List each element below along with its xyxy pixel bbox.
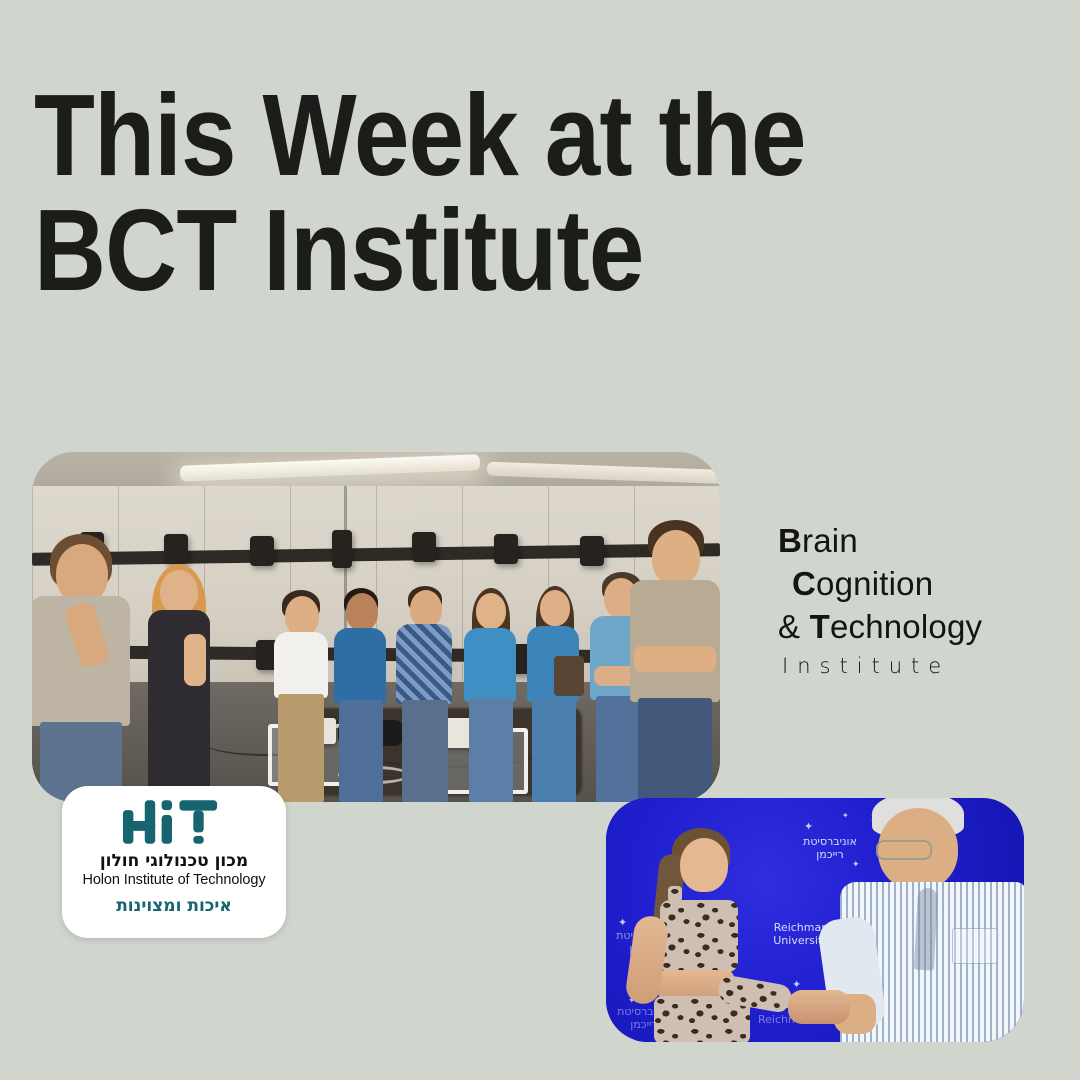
page-title: This Week at the BCT Institute xyxy=(34,78,808,308)
person-torso xyxy=(630,580,720,702)
leopard-top xyxy=(660,900,738,972)
bct-line-technology: & Technology xyxy=(778,606,1048,649)
person-head xyxy=(476,593,506,629)
person-figure-woman xyxy=(624,830,814,1042)
person-legs xyxy=(469,698,513,802)
hit-tagline: איכות ומצוינות xyxy=(116,896,232,916)
person-legs xyxy=(638,698,712,802)
bct-word-cognition: ognition xyxy=(816,565,933,602)
wall-camera-icon xyxy=(412,532,436,562)
holon-institute-of-technology-logo: מכון טכנולוגי חולון Holon Institute of T… xyxy=(62,786,286,938)
lab-room-art xyxy=(32,452,720,802)
person-figure xyxy=(332,588,390,802)
wall-camera-icon xyxy=(164,534,188,564)
person-legs xyxy=(278,694,324,802)
person-head xyxy=(410,590,442,628)
person-legs xyxy=(532,698,576,802)
person-arm xyxy=(184,634,206,686)
person-head xyxy=(540,590,570,626)
person-figure-man xyxy=(820,798,1024,1042)
bct-initial-t: T xyxy=(810,608,830,645)
person-plaid-shirt xyxy=(396,624,452,704)
bct-word-technology: echnology xyxy=(830,608,982,645)
hit-hebrew-name: מכון טכנולוגי חולון xyxy=(100,851,248,871)
wall-camera-icon xyxy=(332,530,352,568)
person-torso xyxy=(464,628,516,702)
bct-line-brain: Brain xyxy=(778,520,1048,563)
handshake-event-photo: ✦ ✦ אוניברסיטתרייכמן ✦ אוניברסיטתרייכמן … xyxy=(606,798,1024,1042)
wall-camera-icon xyxy=(250,536,274,566)
person-torso xyxy=(274,632,328,698)
person-figure xyxy=(270,590,332,802)
shirt-placket xyxy=(914,888,938,971)
lab-tour-photo xyxy=(32,452,720,802)
person-figure xyxy=(32,534,134,802)
person-legs xyxy=(402,700,448,802)
bct-initial-b: B xyxy=(778,522,802,559)
wall-camera-icon xyxy=(580,536,604,566)
person-figure xyxy=(524,586,584,802)
person-head xyxy=(160,570,198,614)
person-figure xyxy=(144,564,216,802)
person-head xyxy=(56,544,108,604)
person-crossed-arms xyxy=(634,646,716,672)
person-legs xyxy=(339,700,383,802)
person-head xyxy=(652,530,700,586)
person-figure xyxy=(628,520,720,802)
bct-word-brain: rain xyxy=(802,522,858,559)
person-head xyxy=(680,838,728,892)
shoulder-bag xyxy=(554,656,584,696)
poster-canvas: This Week at the BCT Institute xyxy=(0,0,1080,1080)
person-figure xyxy=(394,586,456,802)
bct-institute-logo: Brain Cognition & Technology Institute xyxy=(778,520,1048,678)
wall-camera-icon xyxy=(494,534,518,564)
person-head xyxy=(285,596,319,636)
hit-logo-mark xyxy=(122,797,226,845)
bct-initial-c: C xyxy=(792,565,816,602)
shirt-pocket xyxy=(952,928,998,964)
bct-word-institute: Institute xyxy=(782,654,1048,678)
person-head xyxy=(346,593,378,631)
person-torso xyxy=(334,628,386,704)
bct-ampersand: & xyxy=(778,608,810,645)
hit-english-name: Holon Institute of Technology xyxy=(82,872,265,888)
handshake xyxy=(788,990,850,1024)
bct-line-cognition: Cognition xyxy=(792,563,1048,606)
eyeglasses-icon xyxy=(876,840,932,860)
person-figure xyxy=(462,588,520,802)
